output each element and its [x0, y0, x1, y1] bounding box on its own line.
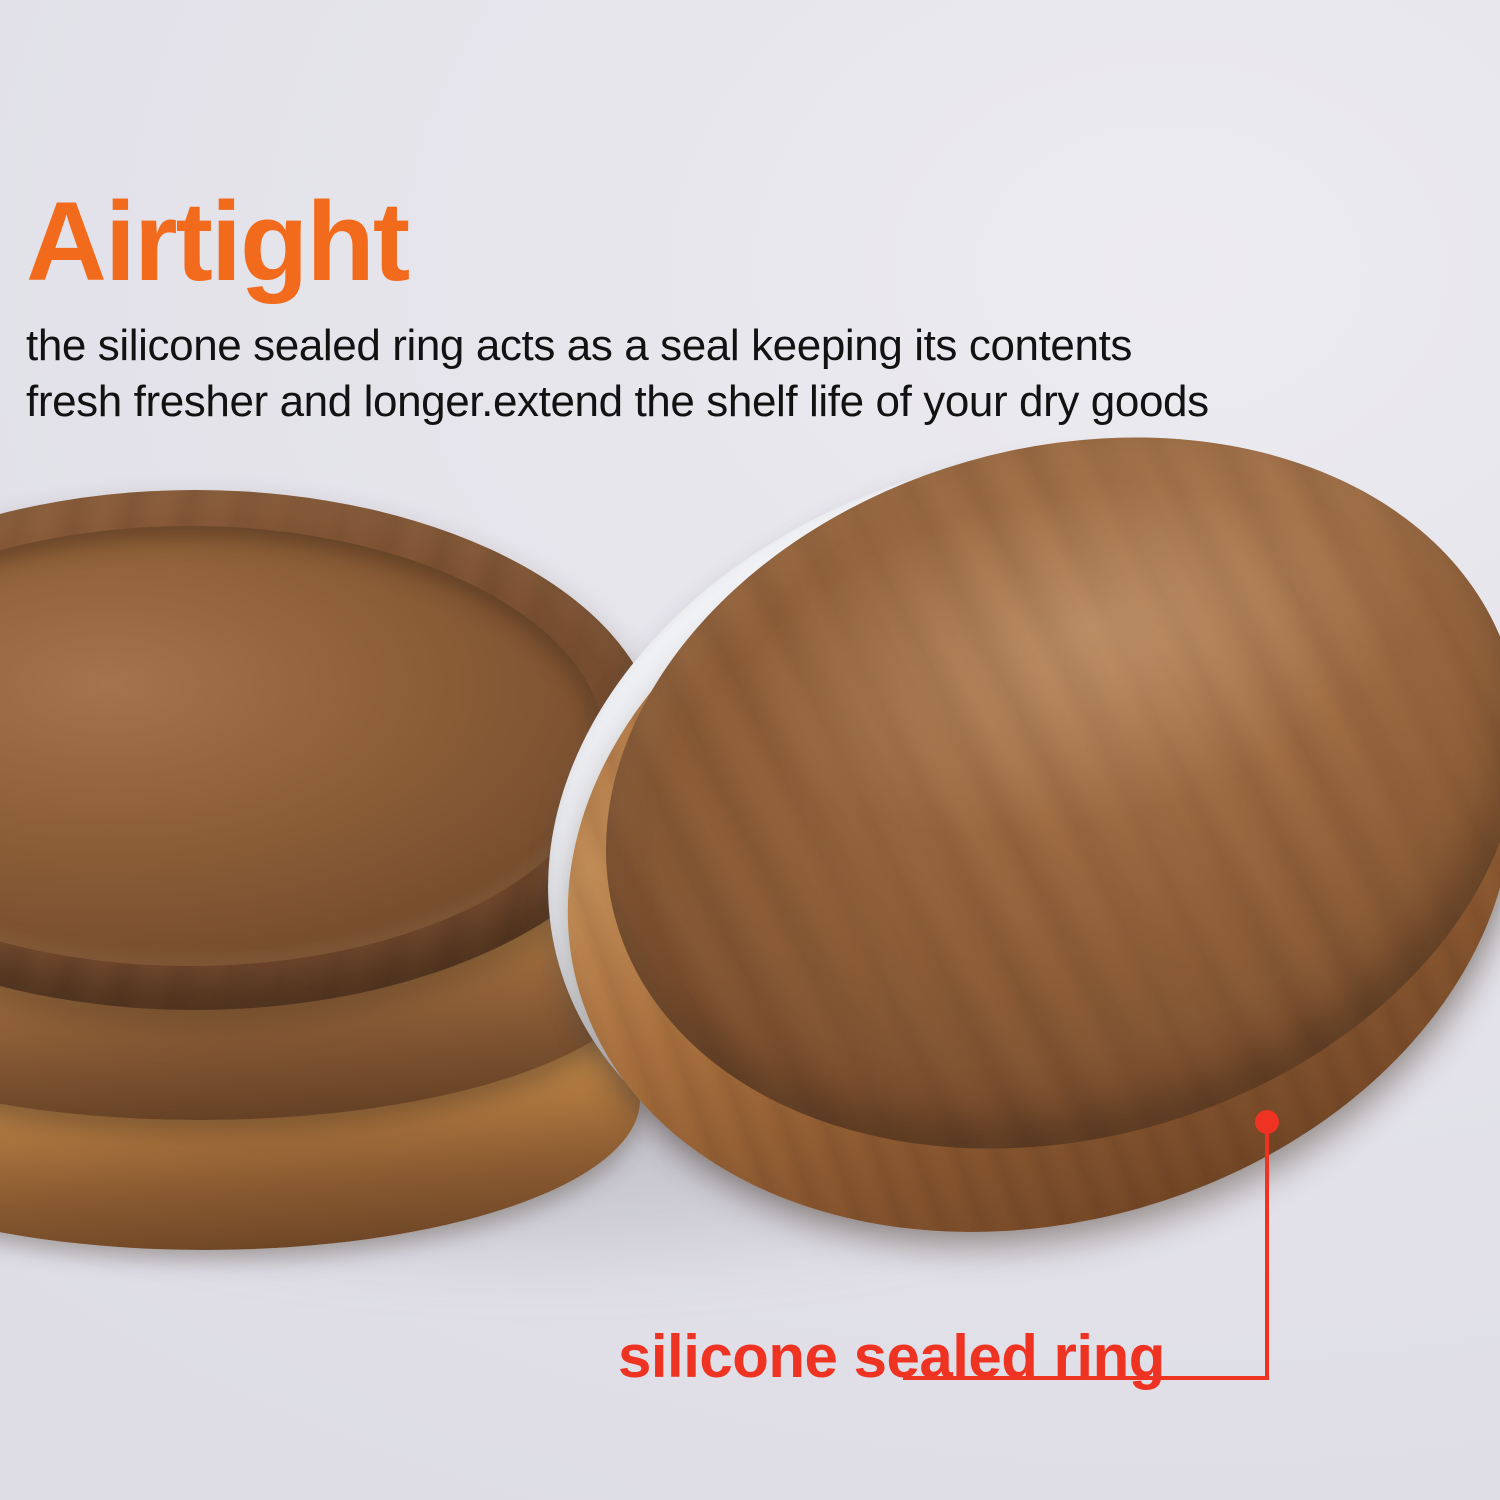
- body-copy-line-2: fresh fresher and longer.extend the shel…: [26, 374, 1426, 430]
- body-copy: the silicone sealed ring acts as a seal …: [26, 318, 1426, 431]
- body-copy-line-1: the silicone sealed ring acts as a seal …: [26, 318, 1426, 374]
- product-feature-image: Airtight the silicone sealed ring acts a…: [0, 0, 1500, 1500]
- callout-label-silicone-sealed-ring: silicone sealed ring: [618, 1327, 1165, 1387]
- callout-leader-line-vertical: [1265, 1122, 1269, 1380]
- headline-airtight: Airtight: [26, 186, 408, 298]
